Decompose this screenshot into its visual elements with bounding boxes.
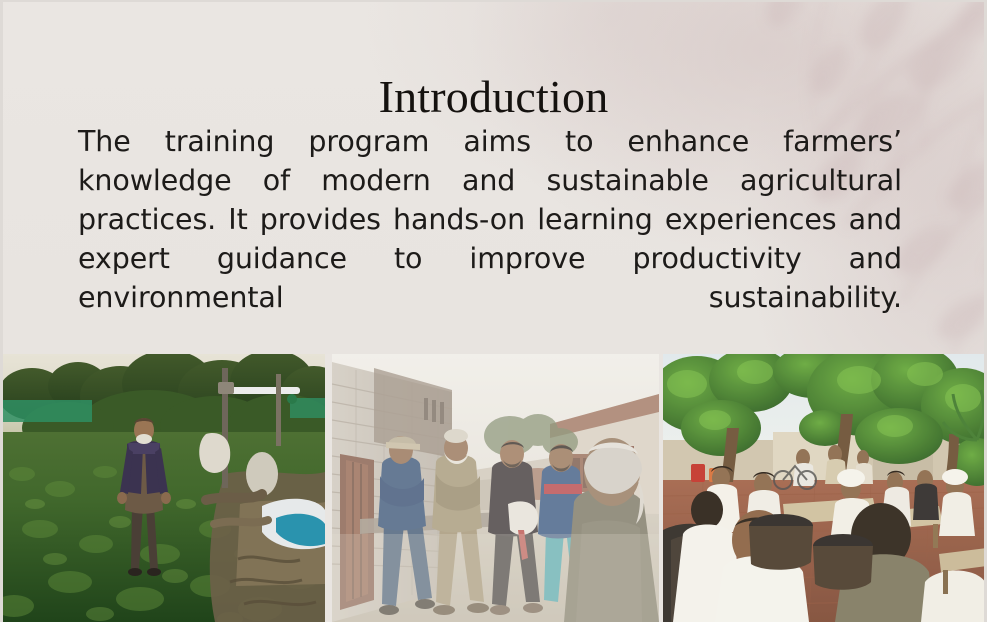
slide-edge-left xyxy=(0,0,3,622)
slide-edge-top xyxy=(0,0,987,2)
photo-gap-1 xyxy=(325,354,332,622)
photo-farmer-in-green-field xyxy=(0,354,325,622)
photo-farmers-outdoor-gathering xyxy=(663,354,987,622)
presentation-slide: Introduction The training program aims t… xyxy=(0,0,987,622)
body-paragraph: The training program aims to enhance far… xyxy=(78,122,902,356)
photo-strip xyxy=(0,354,987,622)
page-title: Introduction xyxy=(0,73,987,121)
photo-farmers-group-village-street xyxy=(332,354,659,622)
